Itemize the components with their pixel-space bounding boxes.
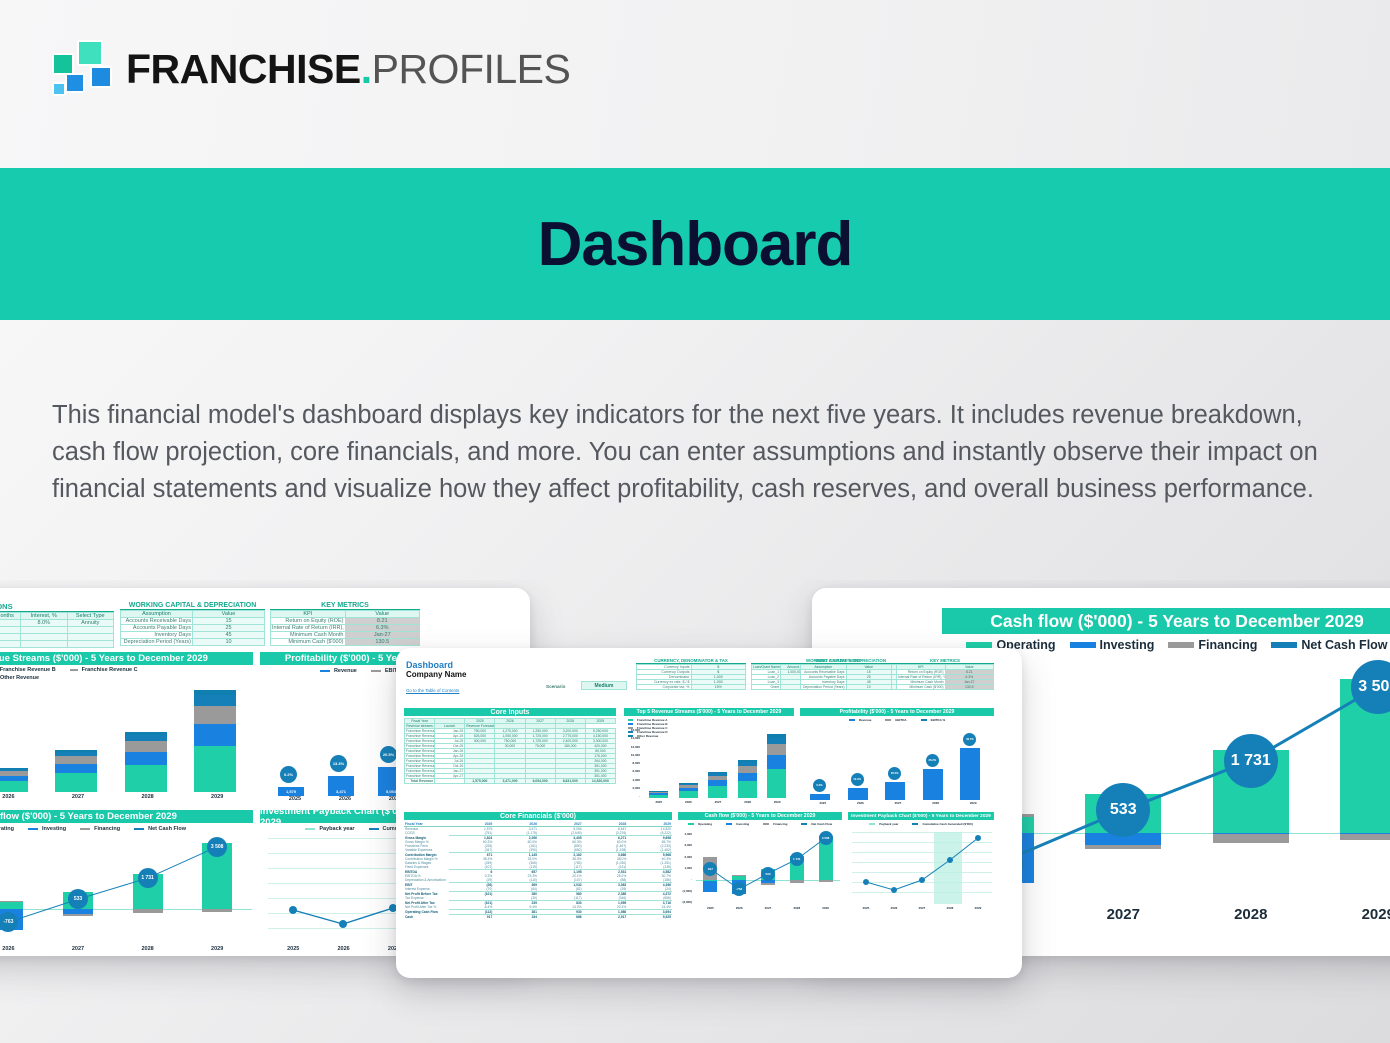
- cashflow-legend-left: OperatingInvestingFinancingNet Cash Flow: [0, 826, 240, 832]
- axis-tick-label: 2029: [182, 946, 252, 956]
- bar-segment: [738, 766, 757, 773]
- bar-segment: [679, 783, 698, 784]
- table-cell: 2,917: [583, 915, 628, 920]
- legend-swatch: [885, 719, 891, 721]
- table-row: Loan_2: [0, 627, 114, 634]
- bar-segment: [708, 773, 727, 776]
- legend-label: Payback year: [319, 826, 354, 832]
- legend-label: Franchise Revenue B: [0, 667, 56, 673]
- table-cell: [67, 634, 114, 641]
- core-financials-table: Fiscal Year20252026202720282029Revenue1,…: [404, 822, 672, 919]
- legend-item: Net Cash Flow: [134, 826, 186, 832]
- bar-segment: [55, 773, 97, 792]
- debt-section-title: DEBT ASSUMPTIONS: [0, 602, 114, 612]
- table-cell: 14,520,000: [585, 779, 615, 784]
- table-cell: 25: [193, 625, 265, 632]
- axis-tick-label: 2026: [674, 800, 704, 807]
- legend-swatch: [869, 823, 875, 825]
- cumulative-cash-line: [852, 832, 992, 904]
- bar-segment: [679, 788, 698, 791]
- table-header-row: AssumptionValue: [121, 611, 265, 618]
- data-point: [891, 887, 897, 893]
- table-cell: 8.0%: [21, 620, 68, 627]
- legend-item: Financing: [1168, 638, 1257, 652]
- column-header: Value: [193, 611, 265, 618]
- front-wc-title: WORKING CAPITAL & DEPRECIATION: [800, 658, 892, 664]
- bar-segment: [679, 785, 698, 788]
- legend-item: Operating: [0, 826, 14, 832]
- table-cell: Inventory Days: [121, 632, 193, 639]
- bar-segment: [708, 776, 727, 781]
- axis-tick-label: 4,000: [622, 778, 640, 782]
- data-label-bubble: 30.7%: [963, 733, 976, 746]
- bar-segment: [767, 738, 786, 744]
- data-label-bubble: 0.2%: [813, 779, 826, 792]
- front-profitability-legend: RevenueEBITDAEBITDA %: [800, 718, 994, 722]
- column-header: Value: [345, 611, 420, 618]
- brand-name-bold: FRANCHISE: [126, 46, 361, 92]
- legend-swatch: [1070, 642, 1096, 649]
- km-rows: KPIValueReturn on Equity (ROE)8.21Intern…: [270, 610, 420, 646]
- legend-swatch: [921, 719, 927, 721]
- table-cell: Franchise Revenue I: [405, 769, 435, 774]
- table-cell: 8,631,000: [555, 779, 585, 784]
- axis-tick-label: 2025: [804, 801, 842, 808]
- legend-label: Payback year: [879, 822, 898, 826]
- table-cell: Franchise Revenue C: [405, 739, 435, 744]
- net-cash-flow-label: 1 731: [138, 868, 158, 888]
- bar-segment: [649, 795, 668, 798]
- axis-tick-label: 2026: [880, 906, 908, 913]
- bar-segment: [125, 732, 167, 735]
- net-cash-flow-label: 3 508: [207, 837, 227, 857]
- table-cell: Franchise Revenue D: [405, 744, 435, 749]
- table-cell: Depreciation Period (Years): [801, 685, 847, 690]
- legend-item: Revenue: [320, 668, 357, 674]
- bar-segment: [679, 791, 698, 798]
- axis-tick-label: 2025: [696, 906, 725, 913]
- front-revenue-streams-title: Top 5 Revenue Streams ($'000) - 5 Years …: [624, 708, 794, 716]
- table-row: Accounts Payable Days25: [121, 625, 265, 632]
- core-inputs-band: Core Inputs: [404, 708, 616, 716]
- legend-label: EBITDA %: [931, 718, 946, 722]
- table-row: Accounts Receivable Days15: [121, 618, 265, 625]
- key-metrics-table-left: KEY METRICS KPIValueReturn on Equity (RO…: [270, 602, 420, 646]
- bar-segment: [0, 776, 28, 781]
- legend-swatch: [305, 828, 315, 831]
- axis-tick-label: 2025: [268, 946, 318, 956]
- axis-tick-label: 2027: [754, 906, 783, 913]
- axis-tick-label: 10,000: [622, 753, 640, 757]
- table-cell: Minimum Cash ($'000): [897, 685, 946, 690]
- front-cashflow-y-axis: 4,0003,0002,0001,000-(1,000)(2,000): [672, 832, 692, 904]
- legend-item: Payback year: [305, 826, 354, 832]
- bar-segment: [55, 764, 97, 773]
- km-section-title: KEY METRICS: [270, 602, 420, 610]
- bar-segment: [55, 752, 97, 756]
- page-banner: Dashboard: [0, 168, 1390, 320]
- front-sheet-title: Dashboard: [406, 660, 466, 670]
- front-cashflow-title: Cash flow ($'000) - 5 Years to December …: [678, 812, 842, 820]
- legend-swatch: [1271, 642, 1297, 649]
- legend-item: EBITDA %: [921, 718, 946, 722]
- legend-swatch: [28, 828, 38, 831]
- table-cell: 6,054,000: [525, 779, 555, 784]
- column-header: Select Type: [67, 613, 114, 620]
- bar-segment: [0, 768, 28, 769]
- revenue-streams-plot: [0, 680, 252, 792]
- column-header: Interest, %: [21, 613, 68, 620]
- legend-swatch: [134, 828, 144, 831]
- column-header: Loan/Grant Name: [752, 665, 781, 670]
- bar-segment: [767, 769, 786, 798]
- brand-name-light: PROFILES: [372, 46, 571, 92]
- table-header-row: KPIValue: [271, 611, 420, 618]
- axis-tick-label: 2028: [917, 801, 955, 808]
- table-cell: 15%: [691, 685, 746, 690]
- legend-label: EBITDA: [895, 718, 906, 722]
- bar: [923, 769, 943, 800]
- front-km-table: KEY METRICS KPIValueReturn on Equity (RO…: [896, 658, 994, 690]
- legend-item: Franchise Revenue C: [70, 667, 138, 673]
- table-cell: 72: [0, 620, 21, 627]
- table-cell: Depreciation Period (Years): [121, 639, 193, 646]
- table-cell: 15: [193, 618, 265, 625]
- table-row: Cash9171546862,9175,925: [404, 915, 672, 920]
- table-cell: [0, 627, 21, 634]
- column-header: Term, Months: [0, 613, 21, 620]
- table-cell: 130.5: [945, 685, 994, 690]
- logo-square-blue-small: [65, 73, 85, 93]
- table-cell: [67, 641, 114, 648]
- legend-swatch: [726, 823, 732, 825]
- front-revenue-streams-x-axis: 20252026202720282029: [644, 800, 792, 807]
- table-cell: Internal Rate of Return (IRR), %: [897, 675, 946, 680]
- scenario-select[interactable]: Medium: [581, 681, 627, 690]
- data-label-bubble: 26.2%: [926, 754, 939, 767]
- bar-segment: [125, 752, 167, 765]
- legend-swatch: [320, 670, 330, 673]
- axis-tick-label: 1,000: [672, 866, 692, 870]
- table-row: Return on Equity (ROE)8.21: [271, 618, 420, 625]
- legend-item: Net Cash Flow: [1271, 638, 1387, 652]
- data-point: [919, 877, 925, 883]
- front-payback-x-axis: 20252026202720282029: [852, 906, 992, 913]
- axis-tick-label: 2025: [270, 796, 320, 806]
- bar-segment: [738, 760, 757, 762]
- legend-swatch: [70, 669, 78, 671]
- revenue-streams-x-axis: 20252026202720282029: [0, 794, 252, 804]
- legend-swatch: [912, 823, 918, 825]
- cashflow-chart-title-left: Cash flow ($'000) - 5 Years to December …: [0, 810, 253, 823]
- bar-segment: [194, 695, 236, 705]
- logo-square-blue: [90, 66, 112, 88]
- wc-section-title: WORKING CAPITAL & DEPRECIATION: [120, 602, 265, 610]
- bar-segment: [55, 756, 97, 764]
- front-profitability-plot: 0.2%13.3%20.5%26.2%30.7%: [804, 728, 992, 800]
- bar-segment: [125, 765, 167, 792]
- legend-label: Revenue: [859, 718, 872, 722]
- wc-rows: AssumptionValueAccounts Receivable Days1…: [120, 610, 265, 646]
- axis-tick-label: 2026: [842, 801, 880, 808]
- legend-swatch: [763, 823, 769, 825]
- total-row: Total Revenue1,575,0003,471,0006,054,000…: [405, 779, 616, 784]
- table-cell: 8.21: [345, 618, 420, 625]
- table-cell: Minimum Cash Month: [271, 632, 346, 639]
- table-row: Depreciation Period (Years)10: [801, 685, 892, 690]
- dashboard-sheet-front[interactable]: Dashboard Company Name Go to the Table o…: [396, 648, 1022, 978]
- front-revenue-streams-plot: [644, 728, 792, 798]
- legend-label: Net Cash Flow: [148, 826, 186, 832]
- legend-swatch: [369, 828, 379, 831]
- table-cell: 154: [493, 915, 538, 920]
- axis-tick-label: 6,000: [622, 769, 640, 773]
- axis-tick-label: 3,000: [672, 843, 692, 847]
- table-row: Minimum Cash ($'000)130.5: [271, 639, 420, 646]
- row-label: Cash: [404, 915, 449, 920]
- legend-label: Operating: [0, 826, 14, 832]
- data-label-bubble: 0.2%: [280, 766, 297, 783]
- legend-item: Investing: [726, 822, 749, 826]
- table-cell: Franchise Revenue A: [405, 729, 435, 734]
- axis-tick-label: 2028: [936, 906, 964, 913]
- bar-segment: [708, 786, 727, 798]
- logo-square-cyan: [52, 82, 66, 96]
- data-point: [975, 835, 981, 841]
- revenue-streams-legend: Franchise Revenue AFranchise Revenue BFr…: [0, 667, 246, 681]
- data-label-bubble: 20.5%: [888, 767, 901, 780]
- axis-tick-label: 2029: [182, 794, 252, 804]
- debt-rows: Loan/Grant NameAmount, $LaunchTerm, Mont…: [0, 612, 114, 648]
- table-row: Minimum Cash ($'000)130.5: [897, 685, 994, 690]
- table-cell: 130.5: [345, 639, 420, 646]
- legend-swatch: [849, 719, 855, 721]
- legend-label: Financing: [94, 826, 120, 832]
- column-header: Assumption: [121, 611, 193, 618]
- legend-item: Financing: [80, 826, 120, 832]
- legend-label: Revenue: [334, 668, 357, 674]
- column-header: Revenue Forecast by years, $: [465, 724, 495, 729]
- front-wc-table: WORKING CAPITAL & DEPRECIATION Assumptio…: [800, 658, 892, 690]
- table-cell: Accounts Receivable Days: [121, 618, 193, 625]
- axis-tick-label: 2029: [1315, 906, 1390, 930]
- axis-tick-label: 2027: [908, 906, 936, 913]
- bar-segment: [194, 746, 236, 792]
- table-cell: Accounts Payable Days: [121, 625, 193, 632]
- front-profitability-x-axis: 20252026202720282029: [804, 801, 992, 808]
- axis-tick-label: 2028: [113, 794, 183, 804]
- table-cell: Franchise Revenue B: [405, 734, 435, 739]
- bar-segment: [125, 735, 167, 741]
- axis-tick-label: 2027: [43, 946, 113, 956]
- row-label: Depreciation & Amortization: [404, 878, 449, 883]
- legend-swatch: [371, 670, 381, 673]
- data-label: 1,575: [278, 789, 304, 794]
- table-cell: 3,471,000: [495, 779, 525, 784]
- screenshot-stage: CURRENCY, DENOMINATOR & TAX Currency Inp…: [0, 580, 1390, 1043]
- table-cell: Franchise Revenue J: [405, 774, 435, 779]
- brand-name-dot: .: [361, 46, 372, 92]
- data-label-bubble: 13.3%: [851, 773, 864, 786]
- table-cell: 1,575,000: [465, 779, 495, 784]
- axis-tick-label: (2,000): [672, 900, 692, 904]
- legend-label: Investing: [1100, 638, 1155, 652]
- table-cell: Accounts Receivable Days: [801, 670, 847, 675]
- front-km-title: KEY METRICS: [896, 658, 994, 664]
- table-cell: [435, 779, 465, 784]
- table-of-contents-link[interactable]: Go to the Table of Contents: [406, 688, 459, 693]
- data-label: 3,471: [328, 789, 354, 794]
- table-row: Loan_11,000,000Jan-25728.0%Annuity: [0, 620, 114, 627]
- legend-swatch: [801, 823, 807, 825]
- legend-label: Cumulative Cash Generated ($'000): [922, 822, 972, 826]
- bar-segment: [125, 741, 167, 752]
- bar-segment: [738, 773, 757, 781]
- data-point: [289, 906, 297, 914]
- bar-segment: [767, 734, 786, 737]
- table-cell: Annuity: [67, 620, 114, 627]
- brand-logo: FRANCHISE.PROFILES: [52, 40, 570, 98]
- table-cell: Franchise Revenue G: [405, 759, 435, 764]
- axis-tick-label: 2026: [725, 906, 754, 913]
- front-revenue-streams-y-axis: 16,00014,00012,00010,0008,0006,0004,0002…: [622, 728, 640, 798]
- bar: [810, 794, 830, 800]
- axis-tick-label: 2,000: [672, 855, 692, 859]
- front-payback-plot: [852, 832, 992, 904]
- revenue-streams-chart-title: Top 5 Revenue Streams ($'000) - 5 Years …: [0, 652, 253, 665]
- legend-item: Franchise Revenue B: [0, 667, 56, 673]
- table-cell: Minimum Cash ($'000): [271, 639, 346, 646]
- axis-tick-label: 2027: [879, 801, 917, 808]
- legend-swatch: [688, 823, 694, 825]
- legend-label: Franchise Revenue C: [82, 667, 138, 673]
- bar-segment: [0, 781, 28, 792]
- bar-segment: [708, 772, 727, 773]
- table-cell: Jan-27: [345, 632, 420, 639]
- legend-swatch: [1168, 642, 1194, 649]
- bar-segment: [738, 781, 757, 798]
- axis-tick-label: 2029: [954, 801, 992, 808]
- axis-tick-label: 2028: [1187, 906, 1315, 930]
- bar-segment: [649, 793, 668, 795]
- axis-tick-label: 2027: [43, 794, 113, 804]
- front-currency-title: CURRENCY, DENOMINATOR & TAX: [636, 658, 746, 664]
- front-payback-title: Investment Payback Chart ($'000) - 5 Yea…: [848, 812, 994, 820]
- axis-tick-label: 4,000: [672, 832, 692, 836]
- bar-segment: [649, 791, 668, 792]
- table-cell: [21, 627, 68, 634]
- front-payback-legend: Payback yearCumulative Cash Generated ($…: [848, 822, 994, 826]
- axis-tick-label: 2029: [964, 906, 992, 913]
- axis-tick-label: 16,000: [622, 728, 640, 732]
- axis-tick-label: 2029: [762, 800, 792, 807]
- logo-square-teal-dark: [52, 53, 74, 75]
- axis-tick-label: 8,000: [622, 761, 640, 765]
- table-cell: Total Revenue: [405, 779, 435, 784]
- axis-tick-label: 2026: [320, 796, 370, 806]
- table-cell: 6.3%: [345, 625, 420, 632]
- column-header: Revenue streams: [405, 724, 435, 729]
- axis-tick-label: 2028: [113, 946, 183, 956]
- axis-tick-label: 2026: [0, 946, 43, 956]
- core-financials-band: Core Financials ($'000): [404, 812, 672, 820]
- data-label-bubble: 13.3%: [330, 755, 347, 772]
- data-point: [863, 879, 869, 885]
- table-cell: Franchise Revenue F: [405, 754, 435, 759]
- legend-label: Investing: [736, 822, 749, 826]
- legend-item: Investing: [1070, 638, 1155, 652]
- axis-tick-label: 2029: [811, 906, 840, 913]
- legend-item: Payback year: [869, 822, 898, 826]
- axis-tick-label: 2,000: [622, 786, 640, 790]
- table-cell: Franchise Revenue H: [405, 764, 435, 769]
- table-row: Depreciation Period (Years)10: [121, 639, 265, 646]
- legend-label: Financing: [1198, 638, 1257, 652]
- bar-segment: [0, 769, 28, 771]
- page-title: Dashboard: [538, 209, 853, 280]
- bar-segment: [55, 750, 97, 752]
- axis-tick-label: 12,000: [622, 745, 640, 749]
- table-row: Minimum Cash MonthJan-27: [271, 632, 420, 639]
- bar-segment: [708, 780, 727, 786]
- legend-label: Investing: [42, 826, 66, 832]
- net-cash-flow-label: 3 508: [819, 831, 833, 845]
- table-cell: 10: [193, 639, 265, 646]
- data-label-bubble: 20.5%: [380, 746, 397, 763]
- logo-square-teal-light: [77, 40, 103, 66]
- legend-item: Revenue: [849, 718, 872, 722]
- front-cashflow-legend: OperatingInvestingFinancingNet Cash Flow: [678, 822, 842, 826]
- front-title-block: Dashboard Company Name Go to the Table o…: [406, 660, 466, 697]
- axis-tick-label: 2026: [318, 946, 368, 956]
- legend-item: Investing: [28, 826, 66, 832]
- legend-label: Operating: [698, 822, 712, 826]
- legend-label: Net Cash Flow: [1301, 638, 1387, 652]
- bar: [848, 788, 868, 800]
- axis-tick-label: 2025: [644, 800, 674, 807]
- net-cash-flow-label: 533: [761, 867, 775, 881]
- legend-item: Operating: [688, 822, 712, 826]
- cashflow-chart-title: Cash flow ($'000) - 5 Years to December …: [942, 608, 1390, 634]
- five-squares-logo-icon: [52, 40, 110, 98]
- page-header: FRANCHISE.PROFILES: [0, 0, 1390, 168]
- bar: [960, 748, 980, 800]
- table-row: Internal Rate of Return (IRR), %6.3%: [271, 625, 420, 632]
- net-cash-flow-label: 1 731: [1224, 734, 1278, 788]
- front-profitability-title: Profitability ($'000) - 5 Years to Decem…: [800, 708, 994, 716]
- cashflow-x-axis-left: 20252026202720282029: [0, 946, 252, 956]
- axis-tick-label: 14,000: [622, 736, 640, 740]
- axis-tick-label: (1,000): [672, 889, 692, 893]
- legend-item: Net Cash Flow: [801, 822, 832, 826]
- bar: [885, 782, 905, 800]
- bar-segment: [0, 771, 28, 775]
- table-cell: Grant: [752, 685, 781, 690]
- bar-segment: [649, 792, 668, 793]
- axis-tick-label: 2026: [0, 794, 43, 804]
- axis-tick-label: 2025: [852, 906, 880, 913]
- bar-segment: [194, 690, 236, 695]
- data-point: [339, 920, 347, 928]
- axis-tick-label: -: [672, 877, 692, 881]
- brand-wordmark: FRANCHISE.PROFILES: [126, 46, 570, 93]
- front-currency-table: CURRENCY, DENOMINATOR & TAX Currency Inp…: [636, 658, 746, 690]
- table-cell: 917: [449, 915, 494, 920]
- front-cashflow-x-axis: 20252026202720282029: [696, 906, 840, 913]
- column-header: 2029: [585, 719, 615, 724]
- axis-tick-label: 2027: [1060, 906, 1188, 930]
- legend-item: Financing: [763, 822, 787, 826]
